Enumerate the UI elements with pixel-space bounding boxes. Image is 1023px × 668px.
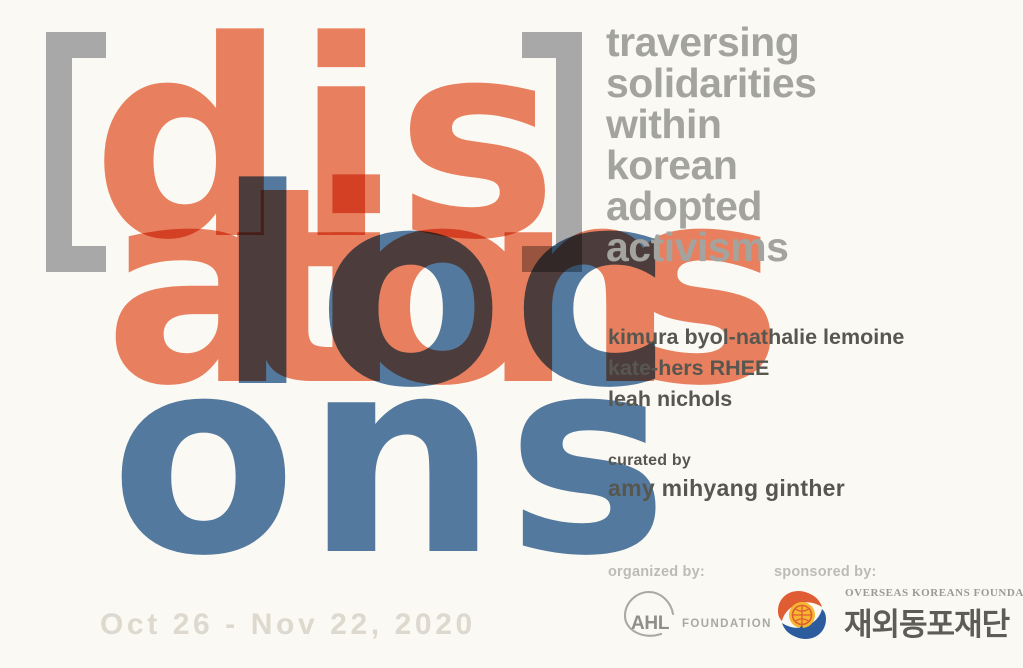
artist-list: kimura byol-nathalie lemoine kate-hers R… bbox=[608, 322, 904, 415]
organized-by-label: organized by: bbox=[608, 564, 705, 580]
okf-english-name: OVERSEAS KOREANS FOUNDATION bbox=[845, 587, 1023, 599]
title-row-ons: ons bbox=[110, 322, 676, 594]
curator-name: amy mihyang ginther bbox=[608, 475, 845, 502]
ahl-egg-icon bbox=[603, 588, 743, 646]
artist-name: kate-hers RHEE bbox=[608, 353, 904, 384]
okf-korean-name: 재외동포재단 bbox=[844, 599, 1009, 644]
ahl-wordmark: AHL bbox=[631, 613, 669, 635]
tagline-line-3: within bbox=[606, 104, 816, 145]
ahl-foundation-word: FOUNDATION bbox=[682, 618, 772, 630]
tagline: traversing solidarities within korean ad… bbox=[606, 22, 816, 268]
artist-name: kimura byol-nathalie lemoine bbox=[608, 322, 904, 353]
tagline-line-5: adopted bbox=[606, 186, 816, 227]
curated-by-label: curated by bbox=[608, 452, 691, 470]
tagline-line-2: solidarities bbox=[606, 63, 816, 104]
tagline-line-1: traversing bbox=[606, 22, 816, 63]
okf-emblem-icon bbox=[768, 585, 838, 647]
artist-name: leah nichols bbox=[608, 384, 904, 415]
title-artwork: dis loc ations ons bbox=[0, 0, 600, 600]
ahl-foundation-logo: AHL FOUNDATION bbox=[603, 588, 743, 646]
tagline-line-6: activisms bbox=[606, 227, 816, 268]
bracket-open-stem bbox=[46, 32, 72, 272]
exhibition-dates: Oct 26 - Nov 22, 2020 bbox=[100, 608, 476, 642]
tagline-line-4: korean bbox=[606, 145, 816, 186]
sponsored-by-label: sponsored by: bbox=[774, 564, 877, 580]
exhibition-poster: dis loc ations ons traversing solidariti… bbox=[0, 0, 1023, 668]
right-column: traversing solidarities within korean ad… bbox=[606, 0, 1023, 668]
okf-logo: OVERSEAS KOREANS FOUNDATION 재외동포재단 bbox=[768, 585, 1023, 647]
